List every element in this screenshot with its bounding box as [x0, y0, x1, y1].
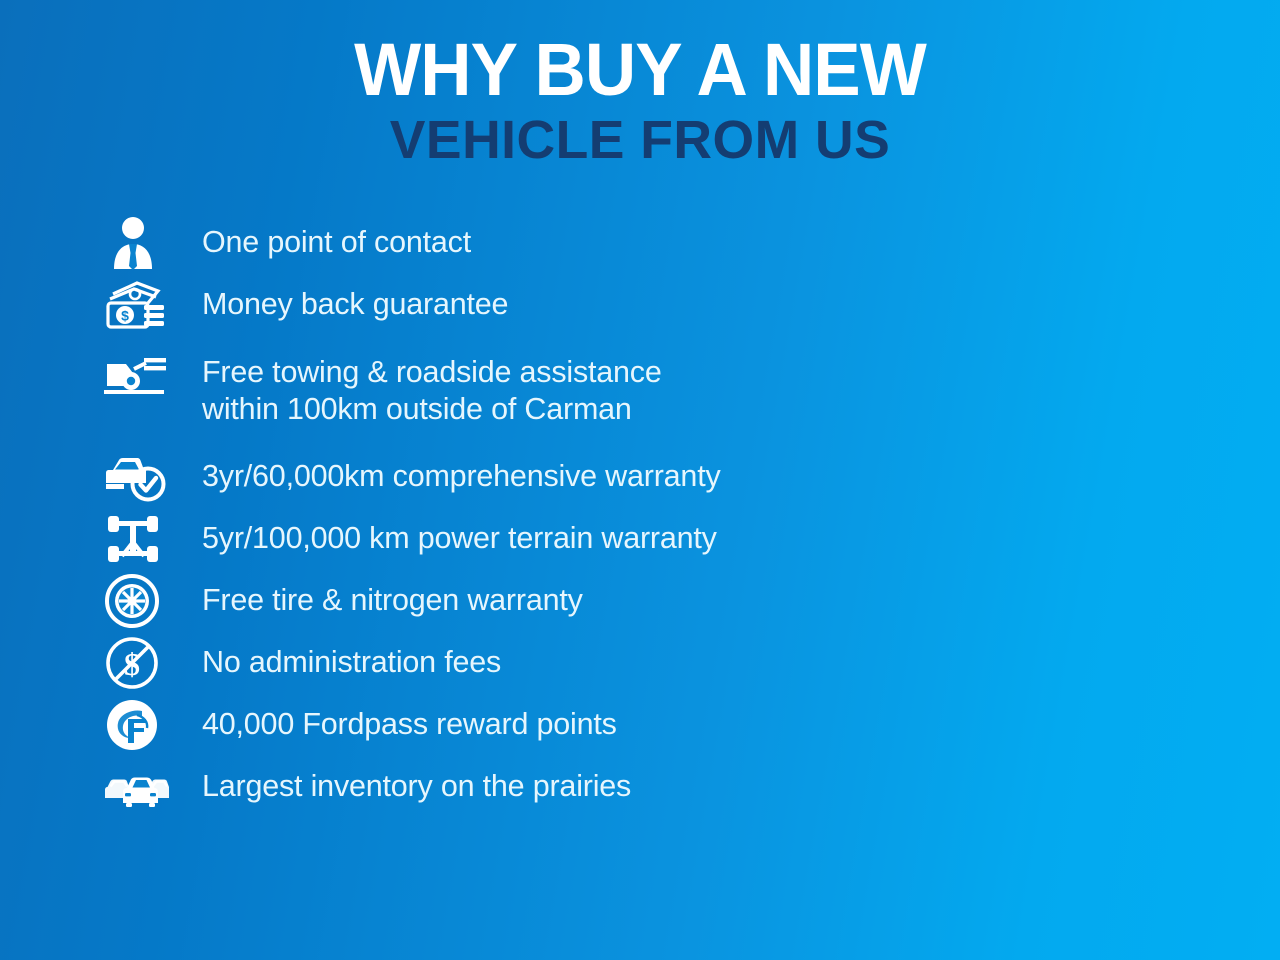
list-item-label: No administration fees — [180, 644, 501, 681]
list-item: Largest inventory on the prairies — [0, 756, 1280, 818]
list-item-label: 40,000 Fordpass reward points — [180, 706, 617, 743]
list-item: Free towing & roadside assistance within… — [0, 336, 1280, 446]
list-item: $ Money back guarantee — [0, 274, 1280, 336]
money-icon: $ — [104, 274, 180, 336]
list-item: 5yr/100,000 km power terrain warranty — [0, 508, 1280, 570]
svg-text:$: $ — [121, 308, 129, 324]
cars-inventory-icon — [104, 756, 180, 818]
list-item-label: Largest inventory on the prairies — [180, 768, 631, 805]
list-item-label: One point of contact — [180, 224, 471, 261]
page-title: WHY BUY A NEW — [26, 34, 1255, 105]
poster-header: WHY BUY A NEW VEHICLE FROM US — [0, 0, 1280, 167]
list-item: 40,000 Fordpass reward points — [0, 694, 1280, 756]
tire-icon — [104, 570, 180, 632]
chassis-icon — [104, 508, 180, 570]
list-item: One point of contact — [0, 212, 1280, 274]
person-icon — [104, 212, 180, 274]
tow-truck-icon — [104, 336, 180, 446]
list-item-label: Free towing & roadside assistance within… — [180, 354, 662, 428]
list-item: 3yr/60,000km comprehensive warranty — [0, 446, 1280, 508]
list-item-label: 5yr/100,000 km power terrain warranty — [180, 520, 717, 557]
promo-poster: WHY BUY A NEW VEHICLE FROM US One point … — [0, 0, 1280, 960]
car-check-icon — [104, 446, 180, 508]
list-item: Free tire & nitrogen warranty — [0, 570, 1280, 632]
no-fee-icon: $ — [104, 632, 180, 694]
fordpass-icon — [104, 694, 180, 756]
features-list: One point of contact $ — [0, 212, 1280, 818]
page-subtitle: VEHICLE FROM US — [6, 113, 1273, 167]
list-item: $ No administration fees — [0, 632, 1280, 694]
list-item-label: Money back guarantee — [180, 286, 508, 323]
list-item-label: Free tire & nitrogen warranty — [180, 582, 583, 619]
list-item-label: 3yr/60,000km comprehensive warranty — [180, 458, 721, 495]
